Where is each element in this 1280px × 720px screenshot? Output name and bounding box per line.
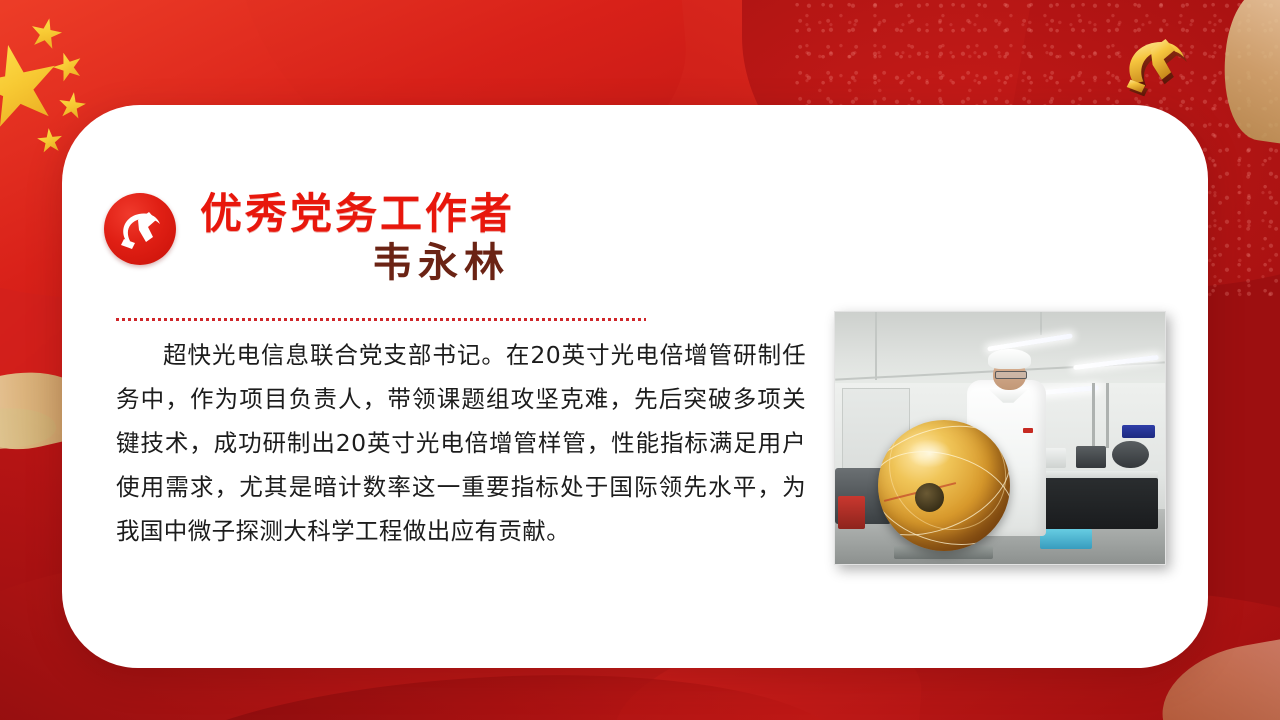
flag-star-small-2 — [49, 48, 87, 86]
photo-pipe-1 — [1092, 383, 1095, 449]
photo-person-glasses — [995, 371, 1027, 379]
photo-instrument-4 — [1122, 425, 1155, 438]
flag-star-small-1 — [27, 15, 65, 53]
flag-star-small-4 — [36, 127, 65, 156]
slide-root: 优秀党务工作者 韦永林 超快光电信息联合党支部书记。在20英寸光电倍增管研制任务… — [0, 0, 1280, 720]
party-emblem-gold-icon — [1112, 26, 1208, 100]
person-photo — [834, 311, 1166, 565]
photo-person-badge — [1023, 428, 1033, 433]
page-title: 优秀党务工作者 — [200, 191, 515, 237]
photo-instrument-2 — [1076, 446, 1106, 469]
photo-instrument-1 — [1112, 441, 1148, 469]
dotted-divider — [116, 318, 646, 321]
photo-tube-core — [915, 483, 944, 512]
card-header: 优秀党务工作者 韦永林 — [104, 189, 724, 309]
photo-beam-3 — [1040, 312, 1042, 335]
flag-star-large — [0, 36, 68, 138]
photo-blue-bin — [1040, 529, 1093, 549]
photo-photomultiplier-tube — [878, 420, 1010, 551]
flag-star-small-3 — [56, 90, 88, 122]
person-name: 韦永林 — [372, 241, 510, 285]
content-card: 优秀党务工作者 韦永林 超快光电信息联合党支部书记。在20英寸光电倍增管研制任务… — [62, 105, 1208, 668]
photo-scene — [835, 312, 1165, 564]
photo-pipe-2 — [1106, 383, 1109, 449]
photo-left-red-device — [838, 496, 864, 529]
hammer-sickle-icon — [104, 193, 176, 265]
biography-text: 超快光电信息联合党支部书记。在20英寸光电倍增管研制任务中，作为项目负责人，带领… — [116, 333, 806, 553]
photo-beam-2 — [875, 312, 877, 380]
photo-person-cap — [988, 349, 1031, 369]
photo-tube-highlight — [907, 439, 952, 468]
